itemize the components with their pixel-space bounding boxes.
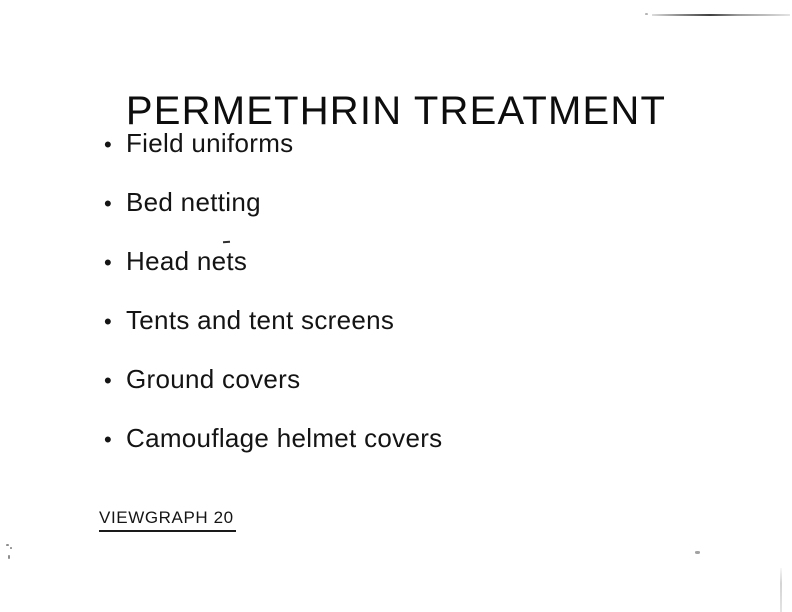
list-item-label: Tents and tent screens: [126, 305, 394, 335]
list-item-label: Head nets: [126, 246, 247, 276]
list-item-label: Bed netting: [126, 187, 261, 217]
scan-line-top-icon: [652, 14, 790, 16]
dust-speck-icon: [695, 551, 700, 554]
slide-page: PERMETHRIN TREATMENT • Field uniforms • …: [0, 0, 792, 612]
bullet-list: • Field uniforms • Bed netting • Head ne…: [104, 128, 704, 482]
page-title: PERMETHRIN TREATMENT: [0, 88, 792, 134]
list-item: • Tents and tent screens: [104, 305, 704, 364]
list-item: • Head nets: [104, 246, 704, 305]
scan-line-right-icon: [780, 568, 782, 612]
dust-speck-icon: [10, 547, 12, 549]
list-item: • Bed netting: [104, 187, 704, 246]
list-item: • Camouflage helmet covers: [104, 423, 704, 482]
viewgraph-underline: [99, 530, 236, 532]
bullet-point-icon: •: [104, 307, 126, 337]
viewgraph-number-label: VIEWGRAPH 20: [99, 508, 234, 528]
bullet-point-icon: •: [104, 425, 126, 455]
dust-speck-icon: [645, 13, 648, 15]
list-item: • Ground covers: [104, 364, 704, 423]
list-item-label: Ground covers: [126, 364, 300, 394]
bullet-point-icon: •: [104, 366, 126, 396]
bullet-point-icon: •: [104, 189, 126, 219]
bullet-point-icon: •: [104, 248, 126, 278]
list-item: • Field uniforms: [104, 128, 704, 187]
bullet-point-icon: •: [104, 130, 126, 160]
list-item-label: Field uniforms: [126, 128, 293, 158]
list-item-label: Camouflage helmet covers: [126, 423, 442, 453]
dust-speck-icon: [6, 544, 9, 546]
dust-speck-icon: [8, 555, 10, 559]
